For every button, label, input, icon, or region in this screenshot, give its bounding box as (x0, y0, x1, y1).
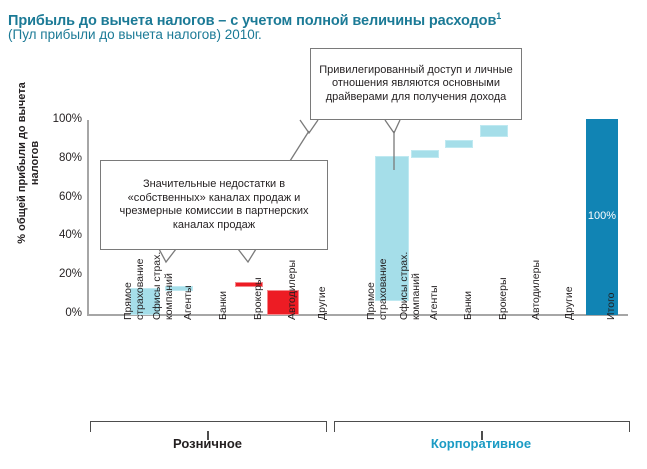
x-axis-label-11: Банки (463, 291, 475, 320)
bar-11 (446, 141, 472, 147)
callout-retail: Значительные недостатки в «собственных» … (100, 160, 328, 250)
y-axis-tick-label: 100% (38, 113, 82, 125)
y-axis-tick-label: 0% (38, 307, 82, 319)
x-axis-label-8: Прямое страхование (366, 258, 389, 320)
page-subtitle: (Пул прибыли до вычета налогов) 2010г. (8, 27, 628, 43)
bar-12 (481, 126, 507, 136)
page-title-footnote-marker: 1 (496, 11, 501, 21)
x-axis-label-4: Банки (218, 291, 230, 320)
page-title: Прибыль до вычета налогов – с учетом пол… (8, 8, 628, 29)
bar-value-label: 100% (587, 210, 617, 222)
x-axis-label-7: Другие (317, 286, 329, 320)
y-axis-tick-label: 20% (38, 268, 82, 280)
group-label-corporate: Корпоративное (334, 436, 628, 451)
y-axis-tick-label: 80% (38, 152, 82, 164)
x-axis-label-14: Другие (564, 286, 576, 320)
x-axis-label-2: Офисы страх. компаний (152, 252, 175, 320)
bar-10 (412, 151, 438, 157)
callout-corporate: Привилегированный доступ и личные отноше… (310, 48, 522, 120)
bar-15: 100% (587, 120, 617, 314)
x-axis-label-10: Агенты (429, 285, 441, 320)
x-axis-label-6: Автодилеры (287, 260, 299, 320)
group-label-retail: Розничное (90, 436, 325, 451)
x-axis-label-3: Агенты (183, 285, 195, 320)
x-axis-label-12: Брокеры (498, 277, 510, 320)
x-axis-label-1: Прямое страхование (123, 258, 146, 320)
x-axis-label-5: Брокеры (253, 277, 265, 320)
y-axis-tick-label: 40% (38, 229, 82, 241)
chart-page: Прибыль до вычета налогов – с учетом пол… (0, 0, 647, 469)
x-axis-label-13: Автодилеры (531, 260, 543, 320)
y-axis-tick-label: 60% (38, 191, 82, 203)
x-axis-label-15: Итого (606, 292, 618, 320)
y-axis-title: % общей прибыли до вычета налогов (16, 68, 42, 258)
x-axis-label-9: Офисы страх. компаний (399, 252, 422, 320)
